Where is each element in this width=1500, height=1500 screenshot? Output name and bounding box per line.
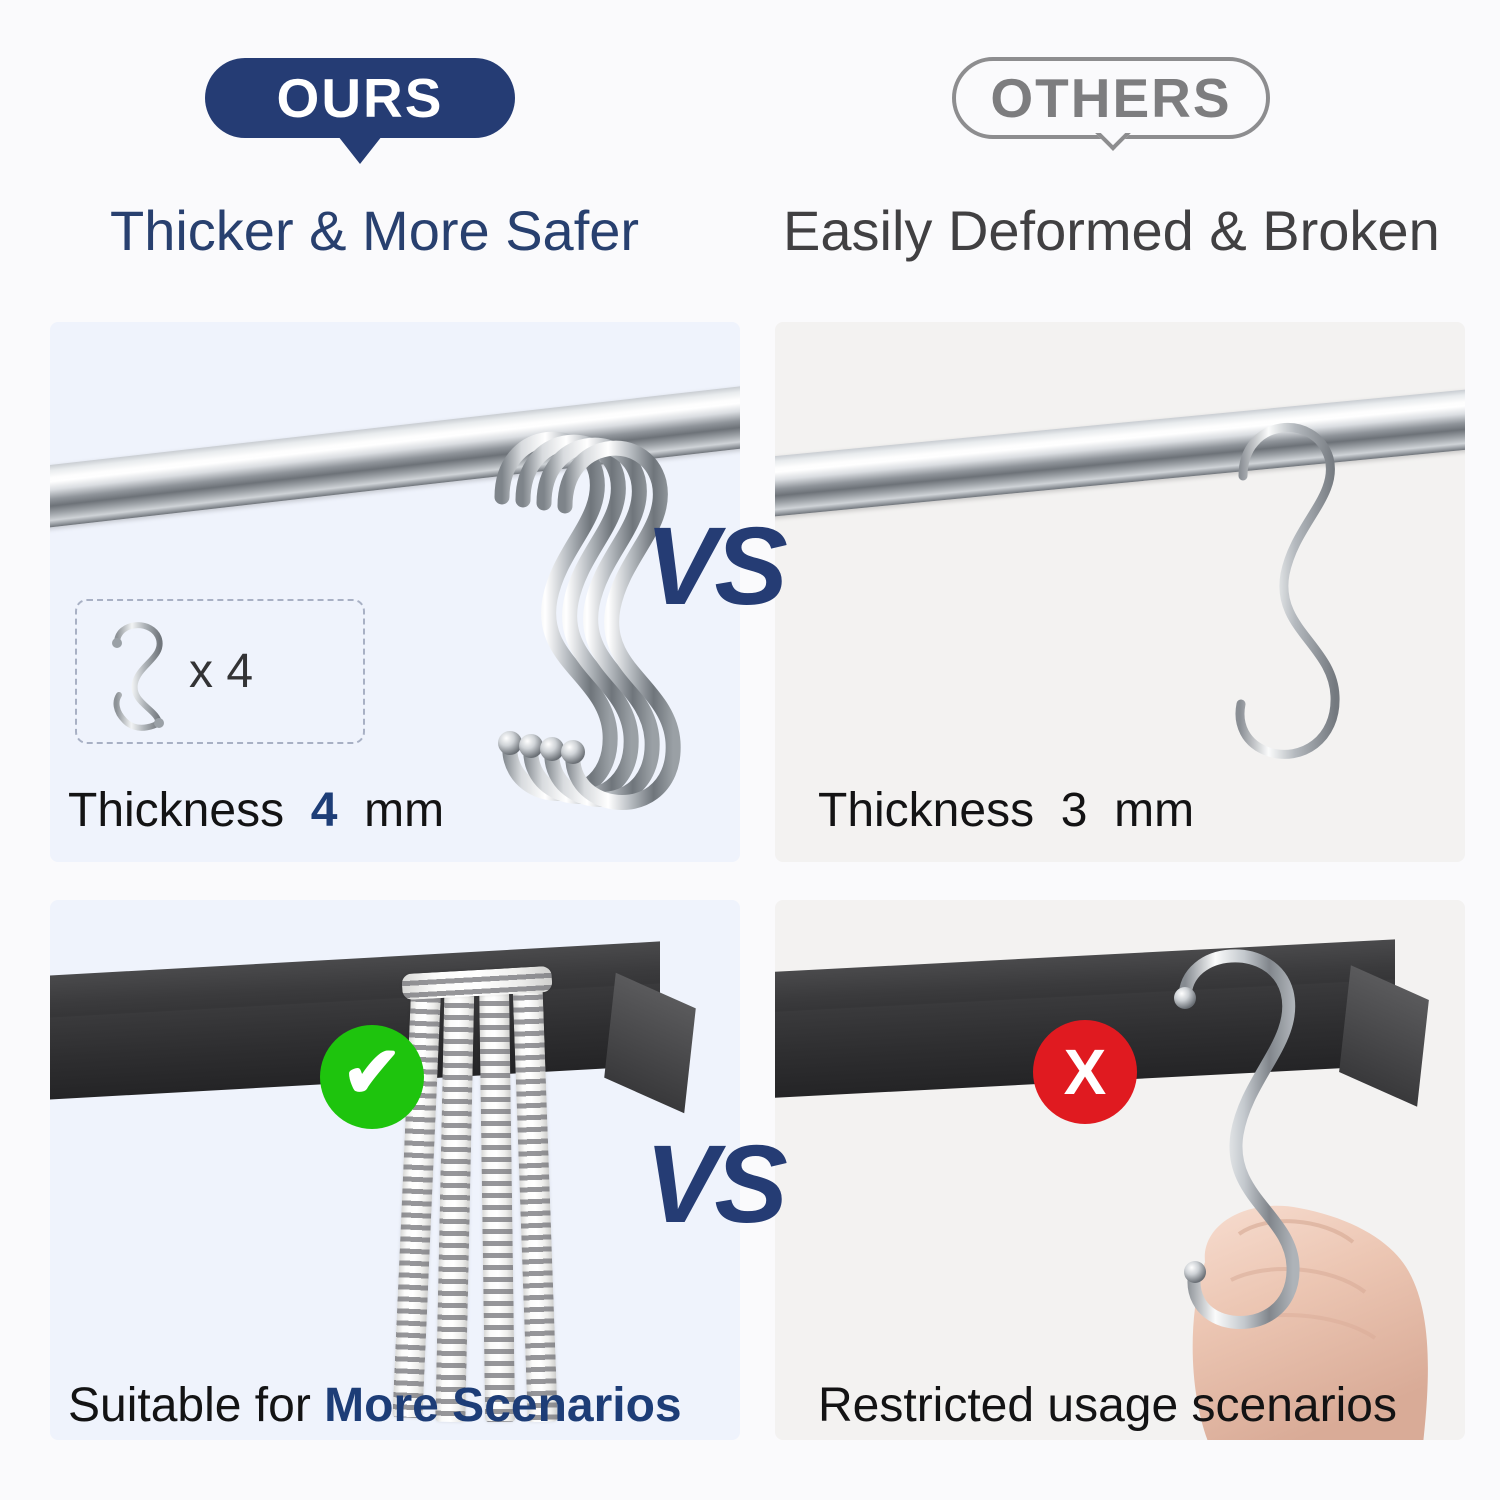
thickness-prefix-right: Thickness	[818, 784, 1034, 837]
thickness-value-left: 4	[311, 784, 338, 837]
panel-top-left: x 4	[50, 322, 740, 862]
caption-bottom-left: Suitable for More Scenarios	[68, 1382, 682, 1430]
thickness-unit-left: mm	[364, 784, 444, 837]
ours-badge: OURS	[205, 58, 515, 138]
left-heading: Thicker & More Safer	[110, 203, 639, 259]
right-heading: Easily Deformed & Broken	[783, 203, 1440, 259]
others-badge-pill: OTHERS	[952, 57, 1270, 139]
caption-bottom-left-emphasis: More Scenarios	[324, 1379, 681, 1432]
vs-label-top: VS	[645, 512, 784, 622]
thickness-unit-right: mm	[1114, 784, 1194, 837]
thickness-label-right: Thickness 3 mm	[818, 787, 1194, 835]
panel-bottom-left: ✔	[50, 900, 740, 1440]
s-hook-single-thin	[1183, 384, 1403, 814]
others-badge-label: OTHERS	[990, 71, 1231, 126]
thickness-label-left: Thickness 4 mm	[68, 787, 444, 835]
caption-bottom-right: Restricted usage scenarios	[818, 1382, 1397, 1430]
quantity-spec-box: x 4	[75, 599, 365, 744]
comparison-infographic: OURS OTHERS Thicker & More Safer Easily …	[0, 0, 1500, 1500]
panel-top-right	[775, 322, 1465, 862]
quantity-label: x 4	[189, 644, 253, 699]
check-icon: ✔	[342, 1037, 402, 1109]
ours-badge-label: OURS	[277, 71, 444, 126]
strap-3	[479, 970, 515, 1422]
others-badge: OTHERS	[952, 57, 1270, 139]
thickness-value-right: 3	[1061, 784, 1088, 837]
ours-badge-tail-icon	[338, 136, 382, 164]
x-icon-badge: X	[1033, 1020, 1137, 1124]
s-hook-large-held	[1125, 920, 1455, 1340]
check-icon-badge: ✔	[320, 1025, 424, 1129]
panel-bottom-right: X	[775, 900, 1465, 1440]
others-badge-tail-icon	[1087, 133, 1135, 165]
vs-label-bottom: VS	[645, 1130, 784, 1240]
ours-badge-pill: OURS	[205, 58, 515, 138]
thickness-prefix-left: Thickness	[68, 784, 284, 837]
caption-bottom-left-plain: Suitable for	[68, 1379, 324, 1432]
x-icon: X	[1064, 1040, 1107, 1104]
s-hook-icon	[101, 613, 179, 731]
